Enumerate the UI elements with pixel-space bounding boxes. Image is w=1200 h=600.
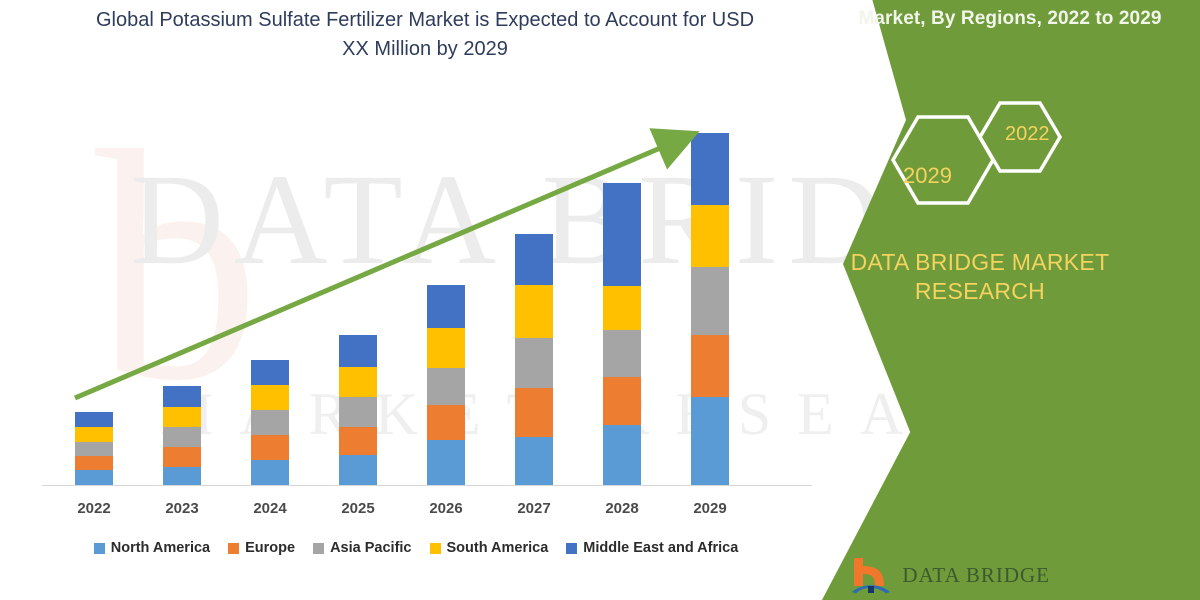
bar-segment-2023-europe[interactable]	[163, 447, 201, 467]
bridge-logo-icon	[850, 556, 892, 594]
bar-segment-2026-north-america[interactable]	[427, 440, 465, 485]
bar-segment-2022-asia-pacific[interactable]	[75, 442, 113, 456]
bar-segment-2028-europe[interactable]	[603, 377, 641, 425]
bar-segment-2023-middle-east-and-africa[interactable]	[163, 386, 201, 407]
bar-segment-2023-asia-pacific[interactable]	[163, 427, 201, 447]
bar-segment-2024-asia-pacific[interactable]	[251, 410, 289, 435]
legend-label: Asia Pacific	[330, 540, 411, 556]
bar-segment-2027-south-america[interactable]	[515, 285, 553, 338]
legend-swatch-icon	[313, 543, 324, 554]
legend-item-middle-east-and-africa[interactable]: Middle East and Africa	[566, 540, 738, 556]
brand-name: DATA BRIDGE MARKET RESEARCH	[830, 248, 1130, 306]
x-axis-label-2022: 2022	[54, 500, 134, 517]
bar-segment-2028-asia-pacific[interactable]	[603, 330, 641, 377]
bar-segment-2029-south-america[interactable]	[691, 205, 729, 267]
panel-header: Market, By Regions, 2022 to 2029	[830, 8, 1190, 30]
bar-2028[interactable]	[603, 183, 641, 485]
bar-segment-2023-north-america[interactable]	[163, 467, 201, 485]
x-axis-label-2028: 2028	[582, 500, 662, 517]
bar-segment-2029-middle-east-and-africa[interactable]	[691, 133, 729, 205]
bar-segment-2025-south-america[interactable]	[339, 367, 377, 397]
bar-segment-2022-middle-east-and-africa[interactable]	[75, 412, 113, 427]
bar-segment-2029-asia-pacific[interactable]	[691, 267, 729, 335]
x-axis-label-2023: 2023	[142, 500, 222, 517]
bar-2023[interactable]	[163, 386, 201, 485]
legend-item-europe[interactable]: Europe	[228, 540, 295, 556]
bar-segment-2026-south-america[interactable]	[427, 328, 465, 368]
bar-segment-2026-europe[interactable]	[427, 405, 465, 440]
hexagon-outlines-icon	[885, 95, 1105, 225]
bar-2022[interactable]	[75, 412, 113, 485]
legend-swatch-icon	[430, 543, 441, 554]
brand-name-line2: RESEARCH	[830, 277, 1130, 306]
bar-segment-2026-asia-pacific[interactable]	[427, 368, 465, 405]
bar-2029[interactable]	[691, 133, 729, 485]
bar-segment-2028-middle-east-and-africa[interactable]	[603, 183, 641, 286]
legend-item-south-america[interactable]: South America	[430, 540, 549, 556]
legend-label: North America	[111, 540, 210, 556]
bar-segment-2027-middle-east-and-africa[interactable]	[515, 234, 553, 285]
hex-label-2022: 2022	[1005, 123, 1050, 146]
legend-label: Middle East and Africa	[583, 540, 738, 556]
bar-segment-2027-asia-pacific[interactable]	[515, 338, 553, 388]
legend-swatch-icon	[94, 543, 105, 554]
x-axis-label-2027: 2027	[494, 500, 574, 517]
logo-text: DATA BRIDGE	[902, 563, 1050, 588]
bar-segment-2022-europe[interactable]	[75, 456, 113, 470]
legend-label: South America	[447, 540, 549, 556]
legend-item-north-america[interactable]: North America	[94, 540, 210, 556]
bar-segment-2027-europe[interactable]	[515, 388, 553, 437]
chart-baseline	[42, 485, 812, 486]
x-axis-label-2024: 2024	[230, 500, 310, 517]
legend-item-asia-pacific[interactable]: Asia Pacific	[313, 540, 411, 556]
bar-segment-2022-south-america[interactable]	[75, 427, 113, 442]
bar-2025[interactable]	[339, 335, 377, 485]
bar-segment-2028-south-america[interactable]	[603, 286, 641, 330]
x-axis-label-2029: 2029	[670, 500, 750, 517]
bar-segment-2029-europe[interactable]	[691, 335, 729, 397]
bar-segment-2029-north-america[interactable]	[691, 397, 729, 485]
bar-segment-2024-europe[interactable]	[251, 435, 289, 460]
chart-legend: North AmericaEuropeAsia PacificSouth Ame…	[46, 540, 786, 556]
bar-2027[interactable]	[515, 234, 553, 485]
bar-2024[interactable]	[251, 360, 289, 485]
legend-swatch-icon	[566, 543, 577, 554]
company-logo: DATA BRIDGE	[850, 556, 1050, 594]
bar-segment-2023-south-america[interactable]	[163, 407, 201, 427]
bar-segment-2025-asia-pacific[interactable]	[339, 397, 377, 427]
hex-label-2029: 2029	[903, 163, 952, 189]
bar-segment-2022-north-america[interactable]	[75, 470, 113, 485]
legend-swatch-icon	[228, 543, 239, 554]
hexagon-badges: 2029 2022	[885, 95, 1105, 225]
x-axis-label-2025: 2025	[318, 500, 398, 517]
bar-segment-2024-south-america[interactable]	[251, 385, 289, 410]
bar-segment-2026-middle-east-and-africa[interactable]	[427, 285, 465, 328]
bar-segment-2025-europe[interactable]	[339, 427, 377, 455]
x-axis-label-2026: 2026	[406, 500, 486, 517]
bar-segment-2028-north-america[interactable]	[603, 425, 641, 485]
bar-segment-2025-north-america[interactable]	[339, 455, 377, 485]
bar-segment-2025-middle-east-and-africa[interactable]	[339, 335, 377, 367]
legend-label: Europe	[245, 540, 295, 556]
chart-plot-area: 20222023202420252026202720282029	[0, 0, 820, 600]
bar-segment-2024-middle-east-and-africa[interactable]	[251, 360, 289, 385]
bar-segment-2024-north-america[interactable]	[251, 460, 289, 485]
infographic-canvas: b DATA BRIDGE MARKET RESEARCH Global Pot…	[0, 0, 1200, 600]
bar-segment-2027-north-america[interactable]	[515, 437, 553, 485]
brand-name-line1: DATA BRIDGE MARKET	[830, 248, 1130, 277]
bar-2026[interactable]	[427, 285, 465, 485]
